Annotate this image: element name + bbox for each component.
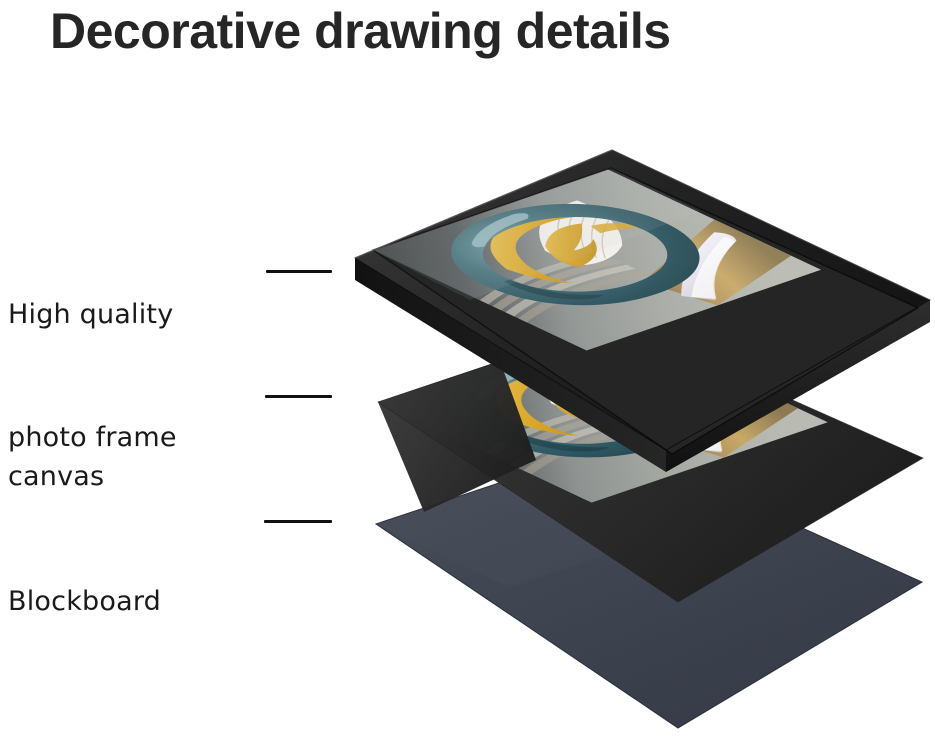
product-exploded-diagram xyxy=(330,140,935,730)
leader-line-blockboard xyxy=(264,520,332,523)
callout-line-1: Blockboard xyxy=(8,581,161,622)
callout-label-blockboard: Blockboard xyxy=(8,499,161,663)
callout-line-1: canvas xyxy=(8,456,104,497)
callout-line-1: High quality xyxy=(8,294,177,335)
leader-line-canvas xyxy=(265,395,332,398)
leader-line-photo-frame xyxy=(266,270,332,273)
page-title: Decorative drawing details xyxy=(50,2,900,62)
